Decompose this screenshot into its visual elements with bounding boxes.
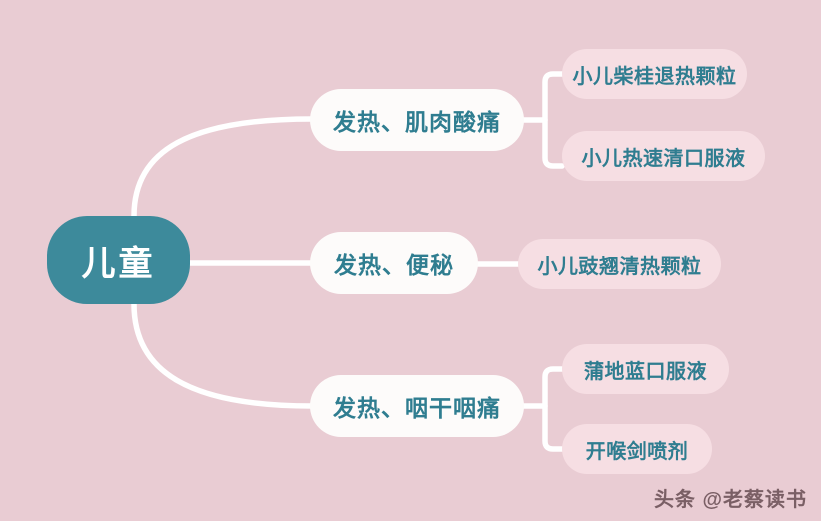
leaf-node-medicine[interactable]: 开喉剑喷剂 bbox=[562, 424, 712, 474]
mindmap-canvas: 儿童 发热、肌肉酸痛 发热、便秘 发热、咽干咽痛 小儿柴桂退热颗粒 小儿热速清口… bbox=[0, 0, 821, 521]
root-node-label: 儿童 bbox=[82, 236, 156, 285]
connector-root-to-branch-2 bbox=[134, 304, 312, 406]
leaf-node-label: 小儿热速清口服液 bbox=[582, 142, 746, 171]
branch-node-fever-sore-throat[interactable]: 发热、咽干咽痛 bbox=[310, 375, 524, 437]
leaf-node-medicine[interactable]: 小儿柴桂退热颗粒 bbox=[562, 49, 747, 99]
branch-node-label: 发热、肌肉酸痛 bbox=[333, 103, 501, 137]
leaf-node-label: 小儿柴桂退热颗粒 bbox=[573, 60, 737, 89]
branch-node-fever-muscle-ache[interactable]: 发热、肌肉酸痛 bbox=[310, 89, 524, 151]
branch-node-label: 发热、便秘 bbox=[334, 246, 454, 280]
connector-root-to-branch-0 bbox=[134, 119, 312, 216]
leaf-node-medicine[interactable]: 小儿热速清口服液 bbox=[562, 131, 765, 181]
leaf-node-label: 开喉剑喷剂 bbox=[586, 435, 689, 464]
leaf-node-medicine[interactable]: 小儿豉翘清热颗粒 bbox=[518, 239, 721, 289]
root-node[interactable]: 儿童 bbox=[47, 216, 190, 304]
leaf-node-medicine[interactable]: 蒲地蓝口服液 bbox=[562, 344, 729, 394]
branch-node-fever-constipation[interactable]: 发热、便秘 bbox=[310, 232, 478, 294]
leaf-node-label: 小儿豉翘清热颗粒 bbox=[538, 250, 702, 279]
connector-branch-2-bracket bbox=[545, 369, 562, 449]
connector-branch-0-bracket bbox=[545, 74, 562, 166]
leaf-node-label: 蒲地蓝口服液 bbox=[584, 355, 707, 384]
watermark: 头条 @老蔡读书 bbox=[654, 483, 807, 512]
branch-node-label: 发热、咽干咽痛 bbox=[333, 389, 501, 423]
